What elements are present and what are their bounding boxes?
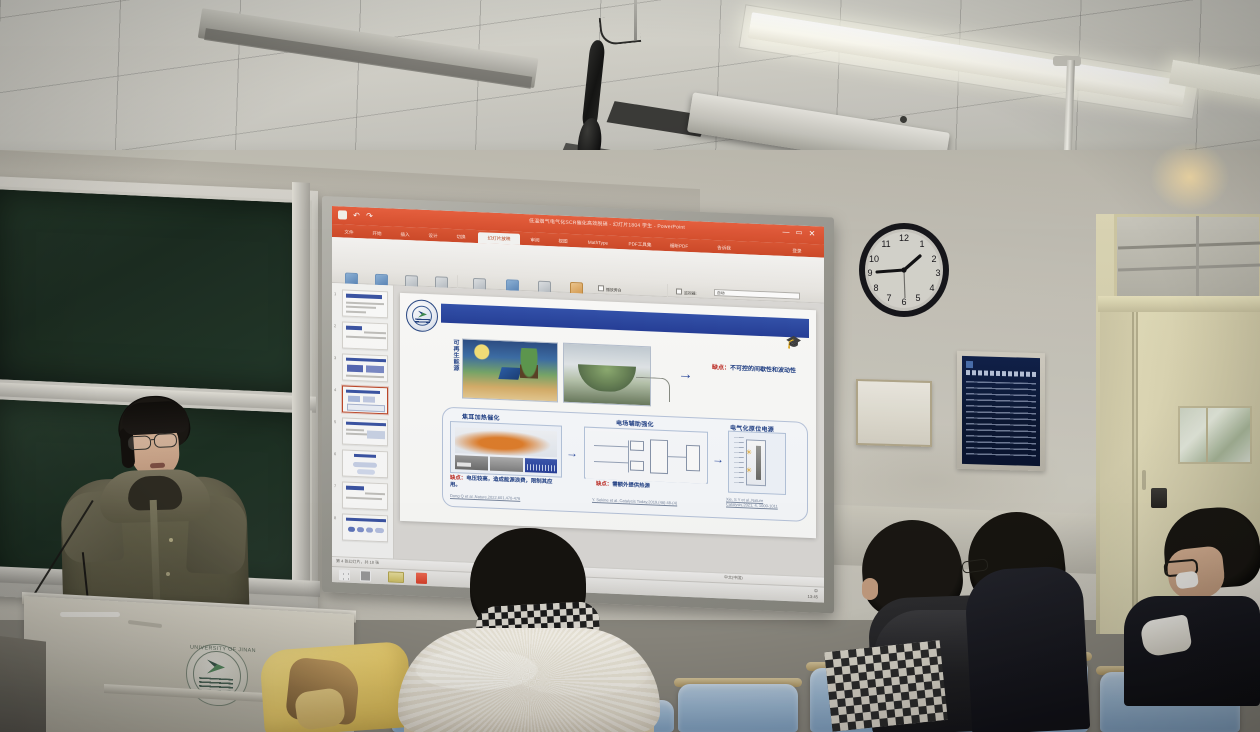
list-item[interactable] [342, 321, 388, 350]
slide-note-efield-label: 缺点： [596, 481, 612, 488]
chalkboard-upper-panel [0, 186, 312, 397]
tab-home[interactable]: 开始 [366, 227, 388, 239]
explorer-icon[interactable] [388, 571, 404, 583]
svg-text:9: 9 [867, 268, 872, 278]
presenter-coat-button [169, 538, 173, 542]
chalkboard-right-rail [292, 182, 310, 587]
list-item[interactable] [342, 481, 388, 510]
thumb-block [348, 527, 355, 532]
door-window-mullion [1206, 408, 1208, 462]
presenter-coat-button [166, 572, 170, 576]
spark-icon: ✳ [746, 449, 753, 456]
joule-cell-2 [490, 457, 523, 472]
thumb-block [357, 527, 364, 532]
podium-side-panel [0, 636, 46, 732]
poster-badge-icon [966, 361, 973, 368]
circuit-line [594, 445, 628, 447]
thumb-line [346, 311, 366, 313]
current-slide[interactable]: 🎓 可再生能源 → 缺点：不可控的间歇性和波动性 焦耳加热催化 [400, 293, 816, 538]
wall-clock-face: 12 1 2 3 4 5 6 7 8 9 10 11 [858, 222, 950, 318]
thumb-line [346, 375, 384, 378]
podium-scuff [60, 612, 120, 617]
start-icon[interactable] [339, 569, 350, 580]
redo-icon[interactable]: ↷ [365, 211, 374, 220]
monitor-field-label: 监视器: [676, 288, 697, 296]
insitu-scale-icon [734, 437, 744, 485]
thumb-line [346, 302, 384, 305]
spark-icon: ✳ [746, 467, 753, 474]
circuit-node [630, 440, 644, 451]
glasses-lens-left [128, 435, 152, 450]
thumb-line [365, 492, 385, 494]
poster-body-text [966, 381, 1036, 459]
thumb-line [364, 331, 386, 334]
save-icon[interactable] [338, 210, 347, 219]
svg-text:3: 3 [935, 268, 940, 278]
joule-heating-image [455, 427, 557, 457]
list-item[interactable] [342, 353, 388, 382]
circuit-line [628, 440, 629, 472]
tree-icon [520, 348, 538, 379]
tab-transitions[interactable]: 切换 [450, 231, 472, 243]
maximize-icon[interactable]: ▭ [795, 229, 803, 237]
door-header [1098, 296, 1260, 312]
arrow-right-icon: → [678, 369, 708, 382]
transom-window [1114, 214, 1260, 300]
slide-note-efield-text: 需额外提供热源 [612, 482, 650, 490]
svg-text:5: 5 [915, 293, 920, 303]
thumb-number: 8 [334, 515, 336, 520]
thumb-line [346, 429, 364, 431]
task-view-icon[interactable] [360, 570, 371, 581]
thumb-block [366, 365, 384, 373]
efield-circuit-diagram [586, 431, 706, 484]
slide-note-top-text: 不可控的间歇性和波动性 [730, 366, 796, 375]
glasses-bridge [151, 439, 155, 441]
presenter-fringe [121, 400, 189, 435]
list-item[interactable] [342, 513, 388, 542]
circuit-line [594, 461, 628, 463]
svg-text:2: 2 [931, 254, 936, 264]
powerpoint-icon[interactable] [416, 573, 427, 584]
thumb-block [367, 430, 385, 439]
list-item[interactable] [342, 417, 388, 446]
wall-display-board [856, 379, 932, 447]
projection-screen[interactable]: ↶ ↷ 低温烟气电气化SCR催化高效脱硝 - 幻灯片1804 学生 - Powe… [332, 206, 824, 603]
university-seal-bars-icon [415, 318, 430, 324]
thumb-title-bar [346, 294, 382, 300]
door-jamb [1100, 312, 1134, 634]
tab-insert[interactable]: 插入 [394, 229, 416, 241]
svg-text:7: 7 [886, 293, 891, 303]
tab-design[interactable]: 设计 [422, 230, 444, 242]
svg-text:1: 1 [919, 239, 924, 249]
thumb-block [375, 528, 384, 533]
thumb-block [357, 469, 375, 475]
thumb-title-bar [346, 518, 386, 523]
joule-cell-1-highlight [457, 462, 471, 467]
door-window [1178, 406, 1252, 464]
lecture-chair[interactable] [678, 684, 798, 732]
thumb-number: 4 [334, 387, 336, 392]
student-glasses-white-coat [1124, 596, 1260, 706]
door-handle[interactable] [1142, 470, 1146, 490]
thumb-title-bar [346, 358, 386, 363]
slide-thumbnail-pane[interactable]: 1 2 3 [332, 283, 394, 569]
transom-mullion [1196, 216, 1199, 298]
powerpoint-window[interactable]: ↶ ↷ 低温烟气电气化SCR催化高效脱硝 - 幻灯片1804 学生 - Powe… [332, 206, 824, 603]
graduation-cap-icon: 🎓 [782, 335, 806, 350]
svg-text:4: 4 [929, 283, 934, 293]
minimize-icon[interactable]: — [782, 229, 790, 237]
arrow-right-icon: → [712, 454, 724, 465]
circuit-block [650, 439, 668, 474]
tab-file[interactable]: 文件 [338, 226, 360, 238]
arrow-right-icon: → [566, 448, 578, 459]
undo-icon[interactable]: ↶ [352, 211, 361, 220]
student-fur-collar-texture [398, 628, 660, 732]
thumb-line [346, 306, 376, 309]
thumb-title-bar [346, 390, 380, 394]
presenter-glasses-icon [128, 433, 185, 452]
joule-cell-3-pattern [527, 464, 555, 471]
wall-light-glow [1150, 142, 1230, 212]
thumb-title-bar [346, 422, 386, 427]
thumb-number: 6 [334, 451, 336, 456]
slide-title-banner [441, 304, 809, 338]
classroom-photo: ↶ ↷ 低温烟气电气化SCR催化高效脱硝 - 幻灯片1804 学生 - Powe… [0, 0, 1260, 732]
slide-subheading-efield: 电场辅助强化 [616, 418, 654, 429]
list-item[interactable] [342, 385, 388, 414]
slide-note-joule-label: 缺点： [450, 475, 466, 482]
glasses-lens-right [154, 433, 178, 448]
thumb-block [347, 404, 385, 413]
student-checkered-scarf [824, 640, 948, 732]
thumb-block [353, 462, 377, 468]
presenter-mouth [150, 463, 165, 469]
wall-clock: 12 1 2 3 4 5 6 7 8 9 10 11 [858, 222, 950, 318]
insitu-electrode-icon [756, 446, 761, 480]
student-ear [862, 578, 878, 600]
thumb-line [346, 497, 382, 500]
slide-label-renewable-energy: 可再生能源 [447, 339, 458, 397]
list-item[interactable] [342, 289, 388, 318]
slide-note-top-label: 缺点： [712, 365, 730, 372]
svg-text:8: 8 [873, 283, 878, 293]
thumb-title-bar [354, 454, 376, 458]
list-item[interactable] [342, 449, 388, 478]
svg-text:12: 12 [899, 233, 909, 243]
slide-note-top: 缺点：不可控的间歇性和波动性 [712, 364, 808, 377]
thumb-number: 2 [334, 323, 336, 328]
card-reader-icon[interactable] [1151, 488, 1167, 508]
circuit-node [630, 460, 644, 471]
thumb-number: 5 [334, 419, 336, 424]
thumb-title-bar [346, 486, 364, 491]
reactor-pipe-icon [636, 377, 670, 402]
slide-subheading-joule: 焦耳加热催化 [462, 411, 500, 422]
solar-panel-icon [498, 367, 521, 380]
close-icon[interactable]: ✕ [808, 230, 816, 238]
svg-text:6: 6 [901, 297, 906, 307]
thumb-block [366, 527, 373, 532]
thumb-number: 1 [334, 291, 336, 296]
thumb-line [346, 336, 386, 339]
student-dark-jacket-coat [964, 565, 1090, 732]
svg-text:10: 10 [869, 254, 879, 264]
circuit-node [686, 445, 700, 472]
thumb-block [348, 396, 360, 403]
thumb-block [347, 365, 363, 373]
thumb-block [363, 396, 375, 403]
checkbox-play-narration[interactable]: 播放旁白 [598, 285, 622, 293]
thumb-title-bar [346, 326, 362, 331]
thumb-number: 7 [334, 483, 336, 488]
tab-view[interactable]: 视图 [552, 235, 574, 247]
thumb-number: 3 [334, 355, 336, 360]
svg-text:11: 11 [881, 239, 890, 249]
tab-review[interactable]: 审阅 [524, 234, 546, 246]
circuit-line [668, 456, 688, 458]
monitor-select[interactable]: 自动 [714, 289, 800, 300]
